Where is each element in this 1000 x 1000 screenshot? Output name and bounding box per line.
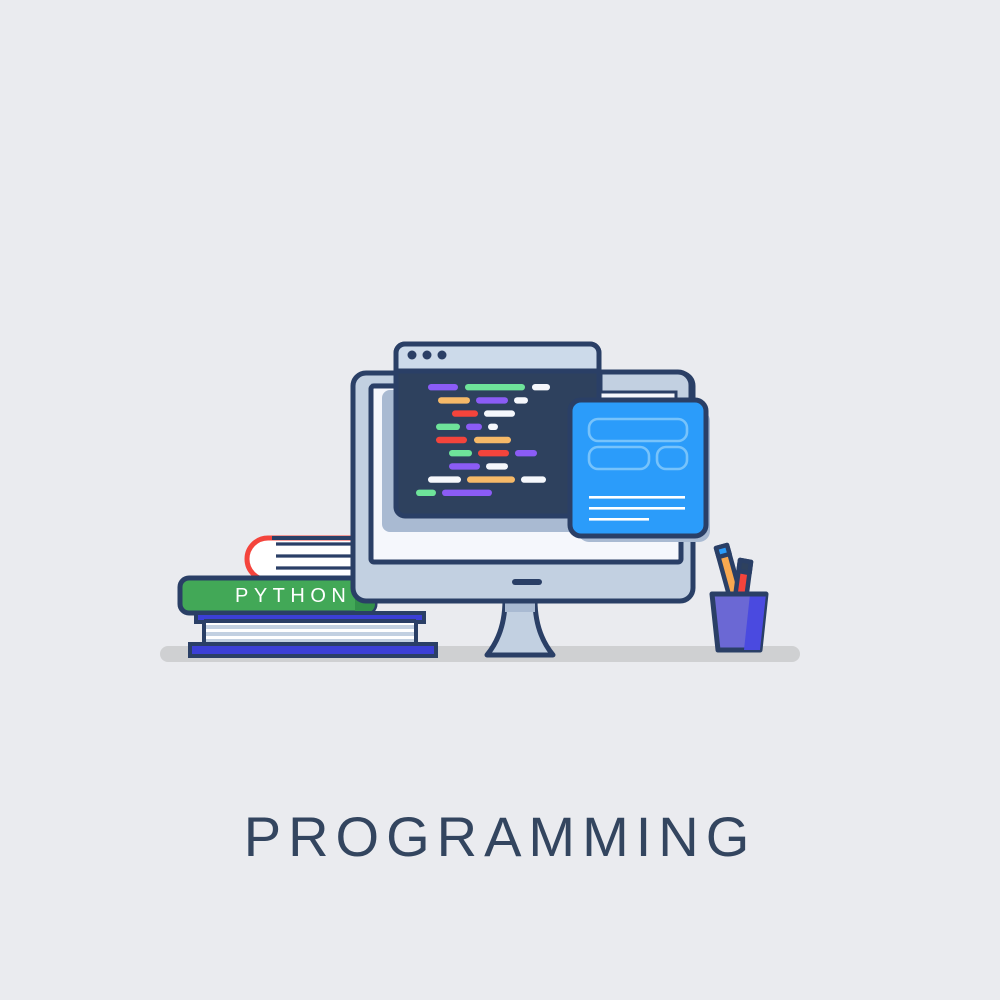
pencil-orange-tip bbox=[716, 545, 730, 557]
code-token-r1-s1 bbox=[428, 384, 458, 390]
panel-text-line-3 bbox=[589, 518, 649, 521]
blue-book-stack bbox=[190, 613, 436, 656]
code-token-r6-s2 bbox=[478, 450, 509, 456]
code-token-r8-s2 bbox=[467, 476, 515, 482]
code-token-r3-s1 bbox=[452, 410, 478, 416]
code-token-r3-s2 bbox=[484, 410, 515, 416]
code-token-r9-s1 bbox=[416, 490, 436, 496]
python-book: PYTHON bbox=[180, 578, 375, 613]
traffic-light-dot-3[interactable] bbox=[438, 351, 447, 360]
code-token-r4-s3 bbox=[488, 424, 498, 430]
code-editor-window[interactable] bbox=[382, 344, 599, 532]
code-token-r6-s1 bbox=[449, 450, 472, 456]
code-token-r7-s1 bbox=[449, 463, 480, 469]
traffic-light-dot-2[interactable] bbox=[423, 351, 432, 360]
programming-illustration: PYTHON bbox=[0, 0, 1000, 1000]
code-token-r2-s2 bbox=[476, 397, 508, 403]
app-preview-panel[interactable] bbox=[570, 400, 710, 542]
code-token-r2-s3 bbox=[514, 397, 528, 403]
python-book-label: PYTHON bbox=[235, 585, 351, 607]
code-token-r8-s1 bbox=[428, 476, 461, 482]
code-token-r4-s2 bbox=[466, 424, 482, 430]
code-token-r7-s2 bbox=[486, 463, 508, 469]
code-token-r1-s3 bbox=[532, 384, 550, 390]
pencil-red-tip bbox=[739, 560, 751, 573]
code-token-r4-s1 bbox=[436, 424, 460, 430]
traffic-light-dot-1[interactable] bbox=[408, 351, 417, 360]
code-token-r9-s2 bbox=[442, 490, 492, 496]
illustration-canvas: PYTHON bbox=[0, 0, 1000, 1000]
red-book bbox=[247, 538, 364, 580]
code-token-r8-s3 bbox=[521, 476, 546, 482]
panel-text-line-2 bbox=[589, 507, 685, 510]
code-token-r5-s2 bbox=[474, 437, 511, 443]
page-title: PROGRAMMING bbox=[244, 805, 757, 868]
code-token-r6-s3 bbox=[515, 450, 537, 456]
code-token-r1-s2 bbox=[465, 384, 525, 390]
blue-book-bottom-band bbox=[190, 644, 436, 656]
power-indicator[interactable] bbox=[512, 579, 542, 585]
panel-text-line-1 bbox=[589, 496, 685, 499]
code-token-r5-s1 bbox=[436, 437, 467, 443]
code-token-r2-s1 bbox=[438, 397, 470, 403]
